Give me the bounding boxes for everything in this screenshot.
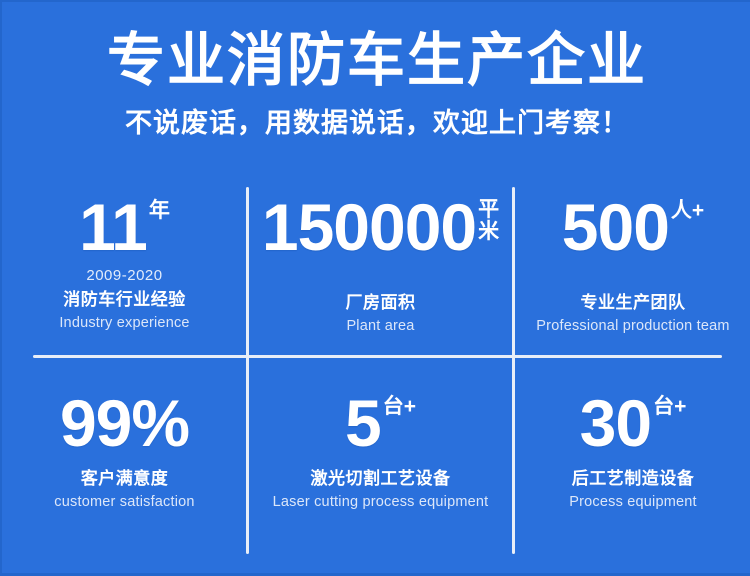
stat-period: 2009-2020 [86, 266, 162, 285]
stat-cell-laser-cutting-equipment: 5 台+ 激光切割工艺设备 Laser cutting process equi… [247, 356, 514, 563]
stat-unit: 年 [149, 200, 170, 221]
stat-value-line: 11 年 [79, 192, 170, 264]
stat-unit: 台+ [653, 396, 686, 417]
divider-horizontal [33, 355, 722, 358]
stat-label-cn: 厂房面积 [346, 292, 416, 314]
stat-cell-customer-satisfaction: 99% 客户满意度 customer satisfaction [2, 356, 247, 563]
stat-label-cn: 消防车行业经验 [63, 289, 186, 311]
stat-label-en: Process equipment [569, 493, 697, 512]
page-subtitle: 不说废话，用数据说话，欢迎上门考察！ [2, 106, 750, 140]
stat-value: 99% [60, 388, 189, 458]
stat-label-en: Professional production team [536, 317, 729, 336]
stat-unit-top: 平 [478, 199, 499, 221]
stat-unit-bottom: 米 [478, 221, 499, 243]
stat-value-line: 99% [60, 388, 189, 460]
stat-label-cn: 激光切割工艺设备 [311, 468, 451, 490]
stat-unit: 平 米 [478, 199, 499, 243]
stat-value: 11 [79, 192, 147, 262]
stat-label-en: Plant area [346, 317, 414, 336]
stat-unit: 人+ [671, 200, 704, 221]
stat-label-cn: 专业生产团队 [581, 292, 686, 314]
stat-label-en: Laser cutting process equipment [273, 493, 489, 512]
stat-value-line: 500 人+ [562, 192, 704, 264]
stat-cell-production-team: 500 人+ 专业生产团队 Professional production te… [514, 178, 750, 356]
stat-label-cn: 客户满意度 [81, 468, 169, 490]
stat-value-line: 150000 平 米 [262, 192, 499, 264]
stat-unit: 台+ [383, 396, 416, 417]
stat-value: 30 [580, 388, 651, 458]
stat-cell-plant-area: 150000 平 米 厂房面积 Plant area [247, 178, 514, 356]
page-title: 专业消防车生产企业 [2, 28, 750, 94]
stat-value: 150000 [262, 192, 476, 262]
stat-value-line: 30 台+ [580, 388, 687, 460]
stat-value: 500 [562, 192, 669, 262]
stats-grid: 11 年 2009-2020 消防车行业经验 Industry experien… [2, 178, 750, 563]
banner-header: 专业消防车生产企业 不说废话，用数据说话，欢迎上门考察！ [2, 28, 750, 140]
stat-value: 5 [345, 388, 381, 458]
stat-cell-industry-experience: 11 年 2009-2020 消防车行业经验 Industry experien… [2, 178, 247, 356]
stat-label-cn: 后工艺制造设备 [572, 468, 695, 490]
stat-label-en: Industry experience [59, 314, 189, 333]
divider-vertical-left [246, 187, 249, 554]
promo-banner: 专业消防车生产企业 不说废话，用数据说话，欢迎上门考察！ 11 年 2009-2… [0, 0, 750, 576]
divider-vertical-right [512, 187, 515, 554]
stat-label-en: customer satisfaction [54, 493, 194, 512]
stat-cell-process-equipment: 30 台+ 后工艺制造设备 Process equipment [514, 356, 750, 563]
stat-value-line: 5 台+ [345, 388, 416, 460]
